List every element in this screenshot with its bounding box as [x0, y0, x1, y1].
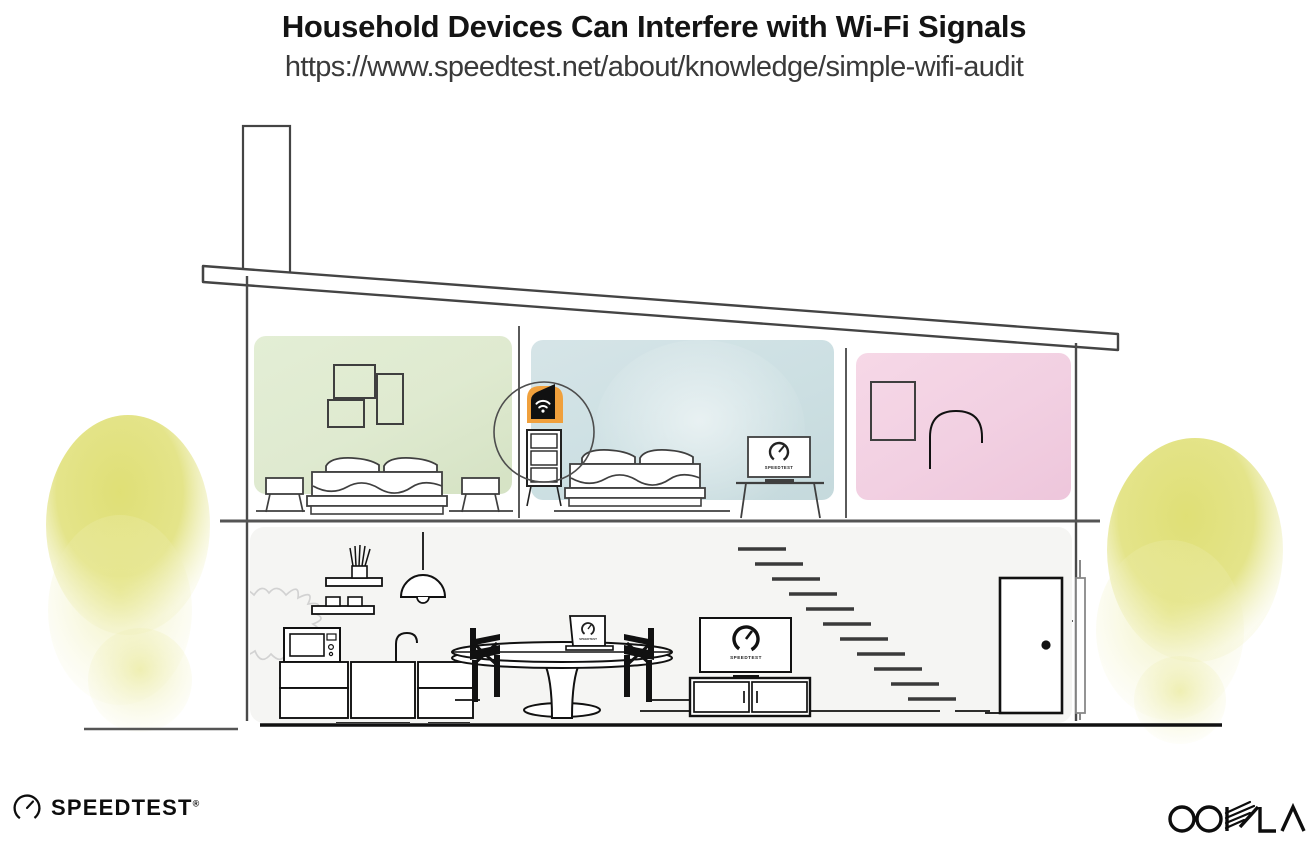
chimney: [243, 126, 290, 278]
speedtest-logo: SPEEDTEST®: [12, 793, 200, 823]
bed-green: [307, 458, 447, 514]
source-url: https://www.speedtest.net/about/knowledg…: [0, 50, 1308, 84]
registered-mark: ®: [193, 799, 201, 809]
room-bedroom-blue: SPEEDTEST: [494, 340, 834, 520]
svg-text:SPEEDTEST: SPEEDTEST: [765, 465, 794, 470]
foliage-left: [46, 415, 210, 732]
footer: SPEEDTEST®: [0, 775, 1308, 861]
house-cutaway-illustration: SPEEDTEST: [0, 100, 1308, 760]
window-post: [1076, 560, 1085, 720]
microwave: [284, 628, 340, 662]
tv-speedtest: SPEEDTEST: [700, 618, 791, 678]
ookla-logo: [1164, 797, 1308, 842]
page-title: Household Devices Can Interfere with Wi-…: [0, 10, 1308, 44]
svg-text:SPEEDTEST: SPEEDTEST: [730, 655, 762, 660]
speedometer-icon: [12, 793, 42, 823]
svg-text:SPEEDTEST: SPEEDTEST: [579, 637, 597, 641]
room-bedroom-green: [254, 336, 513, 514]
wifi-router-icon[interactable]: [527, 384, 563, 423]
media-console: [690, 678, 810, 716]
speedtest-wordmark: SPEEDTEST®: [51, 795, 200, 821]
kitchen-counter: [280, 662, 473, 718]
nightstand-right: [462, 478, 499, 512]
header: Household Devices Can Interfere with Wi-…: [0, 0, 1308, 84]
front-door[interactable]: [1000, 578, 1062, 713]
illustration-canvas: SPEEDTEST: [0, 100, 1308, 760]
page-root: Household Devices Can Interfere with Wi-…: [0, 0, 1308, 861]
nightstand-left: [266, 478, 303, 512]
foliage-right: [1096, 438, 1283, 744]
ookla-mark-icon: [1164, 797, 1308, 837]
door-knob[interactable]: [1041, 640, 1050, 649]
